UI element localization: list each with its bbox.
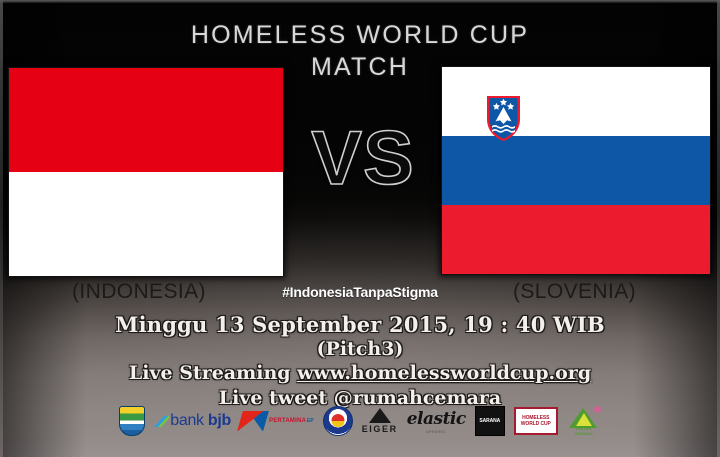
frame-top-edge (0, 0, 720, 3)
pertamina-wordmark: PERTAMINA (269, 418, 306, 424)
eiger-wordmark: EIGER (362, 424, 398, 434)
sponsor-circular-emblem (323, 404, 353, 438)
elastic-wordmark: elastic (407, 409, 466, 429)
indonesia-flag (8, 67, 284, 277)
sponsor-eiger: EIGER (362, 404, 398, 438)
sponsor-pertamina-ep: PERTAMINA EP (240, 404, 314, 438)
black-box-icon: SARANA (475, 406, 505, 436)
campaign-hashtag: #IndonesiaTanpaStigma (0, 284, 720, 300)
streaming-url-link[interactable]: www.homelessworldcup.org (297, 362, 591, 384)
match-datetime: Minggu 13 September 2015, 19 : 40 WIB (0, 312, 720, 337)
match-poster: HOMELESS WORLD CUP MATCH VS (INDONESIA) … (0, 0, 720, 457)
sponsor-bandung-city-crest (119, 404, 145, 438)
elastic-subtext: APPAREL (407, 429, 466, 434)
bjb-swoosh-icon (152, 416, 170, 427)
green-mountain-icon: LINTAS CEMARA (567, 406, 601, 436)
bjb-wordmark: bank bjb (170, 412, 231, 430)
sponsor-logo-strip: bank bjb PERTAMINA EP EIGER elastic APPA… (0, 400, 720, 442)
black-box-label: SARANA (479, 418, 500, 424)
homeless-world-cup-icon: HOMELESS WORLD CUP (514, 407, 558, 435)
green-mountain-label: LINTAS CEMARA (568, 426, 600, 436)
pertamina-ep-suffix: EP (307, 418, 314, 424)
live-streaming-prefix: Live Streaming (129, 362, 297, 384)
circular-emblem-icon (323, 406, 353, 436)
bandung-crest-icon (119, 406, 145, 436)
versus-label: VS (288, 121, 438, 197)
match-details: Minggu 13 September 2015, 19 : 40 WIB (P… (0, 312, 720, 411)
sponsor-homeless-world-cup: HOMELESS WORLD CUP (514, 404, 558, 438)
slovenia-coat-of-arms-icon (484, 93, 523, 143)
match-pitch: (Pitch3) (0, 337, 720, 361)
homeless-world-cup-label: HOMELESS WORLD CUP (516, 415, 556, 427)
slovenia-flag (441, 66, 711, 275)
sponsor-bank-bjb: bank bjb (154, 404, 231, 438)
eiger-mountain-icon (369, 408, 391, 423)
green-mountain-inner-triangle-icon (576, 413, 592, 426)
live-streaming-line: Live Streaming www.homelessworldcup.org (0, 361, 720, 386)
sponsor-green-mountain-logo: LINTAS CEMARA (567, 404, 601, 438)
pertamina-arrow-icon (237, 411, 269, 431)
sponsor-elastic: elastic APPAREL (407, 404, 466, 438)
sponsor-black-box-logo: SARANA (475, 404, 505, 438)
